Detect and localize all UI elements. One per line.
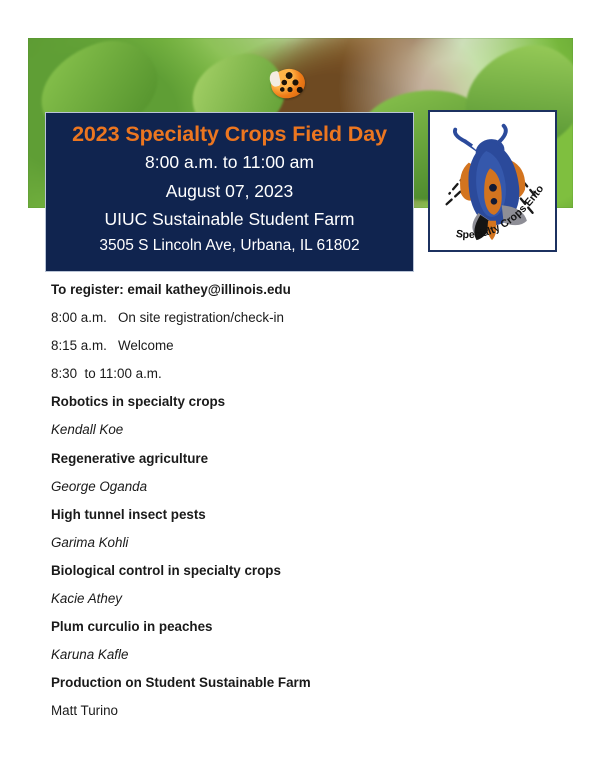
event-date: August 07, 2023: [56, 177, 403, 205]
event-time: 8:00 a.m. to 11:00 am: [56, 148, 403, 176]
schedule-item: 8:00 a.m. On site registration/check-in: [51, 311, 551, 324]
event-address: 3505 S Lincoln Ave, Urbana, IL 61802: [56, 233, 403, 260]
agenda-content: To register: email kathey@illinois.edu 8…: [51, 283, 551, 733]
session-title: High tunnel insect pests: [51, 508, 551, 521]
session-presenter: Matt Turino: [51, 704, 551, 717]
session-presenter: Kacie Athey: [51, 592, 551, 605]
session-title: Robotics in specialty crops: [51, 395, 551, 408]
schedule-item: 8:15 a.m. Welcome: [51, 339, 551, 352]
specialty-crops-entomology-lab-logo: Specialty Crops Entomology Lab: [428, 110, 557, 252]
event-venue: UIUC Sustainable Student Farm: [56, 205, 403, 233]
session-title: Plum curculio in peaches: [51, 620, 551, 633]
ladybug-icon: [268, 65, 307, 100]
session-title: Production on Student Sustainable Farm: [51, 676, 551, 689]
session-presenter: Kendall Koe: [51, 423, 551, 436]
registration-contact-line: To register: email kathey@illinois.edu: [51, 283, 551, 296]
insect-logo-icon: Specialty Crops Entomology Lab: [430, 112, 555, 250]
event-title: 2023 Specialty Crops Field Day: [56, 120, 403, 148]
session-title: Regenerative agriculture: [51, 452, 551, 465]
schedule-item: 8:30 to 11:00 a.m.: [51, 367, 551, 380]
session-presenter: George Oganda: [51, 480, 551, 493]
event-title-block: 2023 Specialty Crops Field Day 8:00 a.m.…: [45, 112, 414, 272]
session-presenter: Karuna Kafle: [51, 648, 551, 661]
session-title: Biological control in specialty crops: [51, 564, 551, 577]
ladybug-spots: [268, 65, 307, 100]
session-presenter: Garima Kohli: [51, 536, 551, 549]
